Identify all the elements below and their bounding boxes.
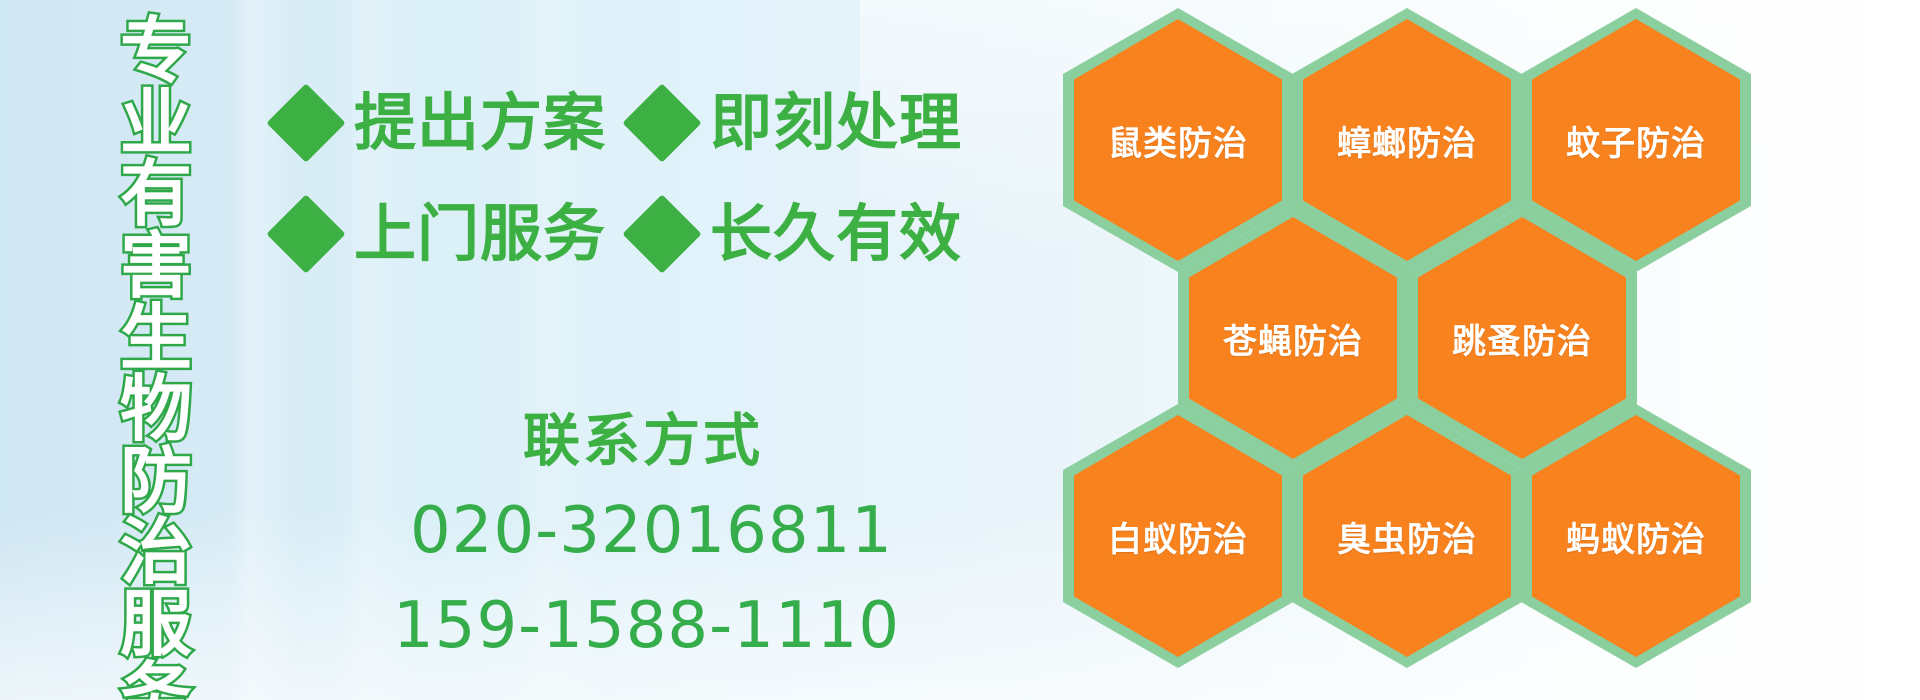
promo-banner: 专 业 有 害 生 物 防 治 服 务 提出方案 即刻处理 上门服务 长久有效 … — [0, 0, 1920, 700]
vertical-headline-char-5: 生 — [120, 303, 192, 375]
hex-cell-bedbug-control[interactable]: 臭虫防治 — [1292, 404, 1522, 668]
vertical-headline: 专 业 有 害 生 物 防 治 服 务 — [113, 16, 199, 700]
hex-cell-ant-control[interactable]: 蚂蚁防治 — [1521, 404, 1751, 668]
contact-heading: 联系方式 — [523, 395, 763, 477]
vertical-headline-char-9: 服 — [120, 589, 192, 661]
vertical-headline-char-2: 业 — [120, 88, 192, 160]
feature-label-immediate-handling: 即刻处理 — [710, 92, 962, 154]
feature-label-propose-plan: 提出方案 — [354, 92, 606, 154]
hex-label: 臭虫防治 — [1292, 404, 1522, 668]
diamond-icon — [622, 83, 701, 162]
hex-label: 蚂蚁防治 — [1521, 404, 1751, 668]
vertical-headline-char-10: 务 — [120, 661, 192, 700]
vertical-headline-char-6: 物 — [120, 374, 192, 446]
vertical-headline-char-8: 治 — [120, 517, 192, 589]
feature-row-1: 提出方案 即刻处理 — [278, 92, 966, 154]
feature-label-door-service: 上门服务 — [354, 203, 606, 265]
diamond-icon — [266, 194, 345, 273]
feature-row-2: 上门服务 长久有效 — [278, 203, 966, 265]
hex-cell-termite-control[interactable]: 白蚁防治 — [1063, 404, 1293, 668]
vertical-headline-char-3: 有 — [120, 159, 192, 231]
contact-phone-mobile[interactable]: 159-1588-1110 — [393, 589, 900, 663]
vertical-headline-char-7: 防 — [120, 446, 192, 518]
contact-phone-landline[interactable]: 020-32016811 — [410, 494, 893, 568]
vertical-headline-char-4: 害 — [120, 231, 192, 303]
hex-label: 白蚁防治 — [1063, 404, 1293, 668]
diamond-icon — [622, 194, 701, 273]
vertical-headline-char-1: 专 — [120, 16, 192, 88]
feature-label-long-lasting: 长久有效 — [710, 203, 962, 265]
diamond-icon — [266, 83, 345, 162]
